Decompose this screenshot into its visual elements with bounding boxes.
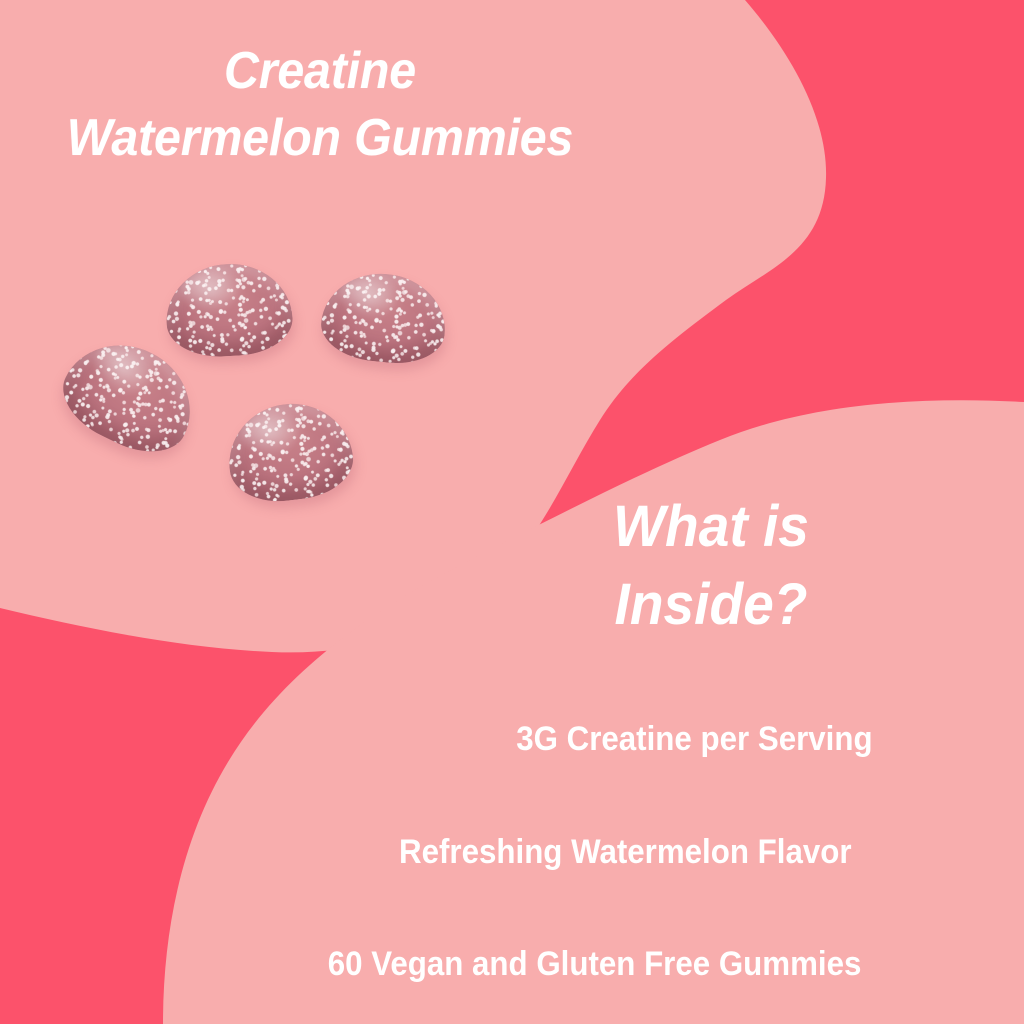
feature-item-1: 3G Creatine per Serving	[49, 722, 1024, 756]
product-title: Creatine Watermelon Gummies	[22, 38, 617, 171]
product-poster: Creatine Watermelon Gummies What is Insi…	[0, 0, 1024, 1024]
feature-item-2: Refreshing Watermelon Flavor	[46, 835, 1024, 869]
section-heading-line-2: Inside?	[488, 566, 935, 644]
feature-item-3: 60 Vegan and Gluten Free Gummies	[44, 947, 1024, 981]
section-heading: What is Inside?	[488, 488, 935, 643]
product-title-line-1: Creatine	[22, 38, 617, 105]
section-heading-line-1: What is	[488, 488, 935, 566]
product-title-line-2: Watermelon Gummies	[22, 105, 617, 172]
